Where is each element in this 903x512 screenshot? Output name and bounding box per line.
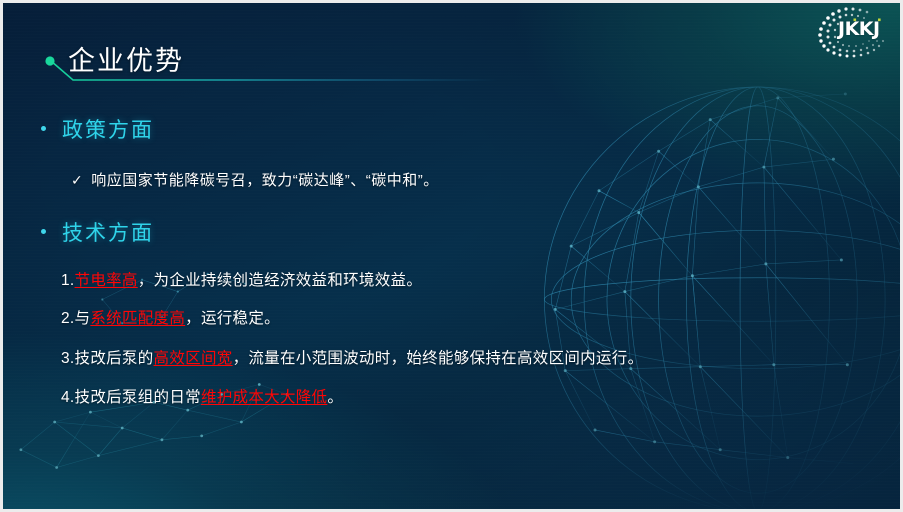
- section-heading-2: 技术方面: [41, 217, 154, 247]
- slide-content: 政策方面✓响应国家节能降碳号召，致力“碳达峰”、“碳中和”。技术方面1.节电率高…: [3, 3, 903, 512]
- item-number: 1.: [61, 272, 75, 289]
- item-text: 技改后泵组的日常: [75, 389, 201, 406]
- highlighted-phrase: 高效区间宽: [154, 350, 233, 367]
- item-text: ，为企业持续创造经济效益和环境效益。: [138, 272, 422, 289]
- item-number: 2.: [61, 310, 75, 327]
- section-heading-label: 政策方面: [62, 114, 154, 144]
- cyan-dot-icon: [41, 229, 46, 234]
- bullet-item: ✓响应国家节能降碳号召，致力“碳达峰”、“碳中和”。: [71, 169, 439, 190]
- highlighted-phrase: 节电率高: [75, 272, 138, 289]
- item-text: 。: [327, 389, 343, 406]
- section-heading-1: 政策方面: [41, 114, 154, 144]
- bullet-item: 3.技改后泵的高效区间宽，流量在小范围波动时，始终能够保持在高效区间内运行。: [61, 346, 643, 368]
- item-text: 与: [75, 310, 91, 327]
- item-text: 响应国家节能降碳号召，致力“碳达峰”、“碳中和”。: [91, 169, 438, 190]
- item-text: ，流量在小范围波动时，始终能够保持在高效区间内运行。: [233, 350, 644, 367]
- highlighted-phrase: 系统匹配度高: [90, 310, 185, 327]
- presentation-slide: JKKJ 企业优势 政策方面✓响应国家节能降碳号召，致力“碳达峰”、“碳中和”。…: [0, 0, 903, 512]
- bullet-item: 2.与系统匹配度高，运行稳定。: [61, 306, 280, 328]
- check-icon: ✓: [71, 172, 83, 189]
- highlighted-phrase: 维护成本大大降低: [201, 389, 327, 406]
- item-text: ，运行稳定。: [185, 310, 280, 327]
- cyan-dot-icon: [41, 126, 46, 131]
- item-number: 4.: [61, 389, 75, 406]
- section-heading-label: 技术方面: [62, 217, 154, 247]
- bullet-item: 4.技改后泵组的日常维护成本大大降低。: [61, 385, 343, 407]
- bullet-item: 1.节电率高，为企业持续创造经济效益和环境效益。: [61, 268, 422, 290]
- item-number: 3.: [61, 350, 75, 367]
- item-text: 技改后泵的: [75, 350, 154, 367]
